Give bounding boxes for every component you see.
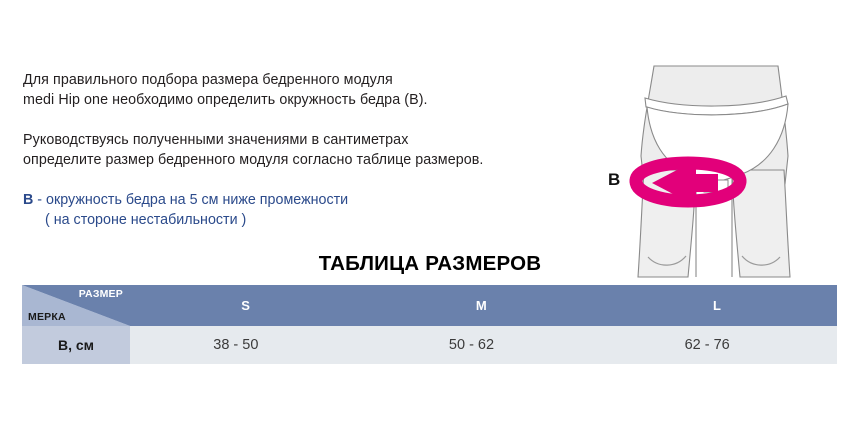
table-corner-cell: РАЗМЕР МЕРКА [22,285,130,326]
column-header-l: L [601,285,837,326]
cell-b-s-value: 38 - 50 [213,337,258,353]
row-header-b: B, см [22,326,130,364]
column-header-m-label: M [476,298,487,313]
intro-paragraph-1: Для правильного подбора размера бедренно… [23,70,583,110]
size-guide-page: Для правильного подбора размера бедренно… [0,0,860,430]
column-header-s-label: S [241,298,250,313]
cell-b-m: 50 - 62 [366,326,602,364]
intro-paragraph-2-line-2: определите размер бедренного модуля согл… [23,150,583,170]
column-header-l-label: L [713,298,721,313]
cell-b-m-value: 50 - 62 [449,337,494,353]
size-table: РАЗМЕР МЕРКА S M L B, см 38 - 50 50 - 62… [22,285,837,364]
cell-b-l-value: 62 - 76 [685,337,730,353]
intro-paragraph-1-line-1: Для правильного подбора размера бедренно… [23,70,583,90]
measurement-note-subtext: ( на стороне нестабильности ) [23,210,583,230]
column-header-s: S [130,285,366,326]
intro-paragraph-2-line-1: Руководствуясь полученными значениями в … [23,130,583,150]
intro-paragraph-2: Руководствуясь полученными значениями в … [23,130,583,170]
intro-paragraph-1-line-2: medi Hip one необходимо определить окруж… [23,90,583,110]
illustration-measure-label: B [608,170,620,190]
hip-thigh-diagram-icon [592,52,840,289]
corner-measure-label: МЕРКА [28,311,66,323]
table-row: B, см 38 - 50 50 - 62 62 - 76 [22,326,837,364]
measurement-note-marker: B [23,192,33,208]
column-header-m: M [366,285,602,326]
cell-b-s: 38 - 50 [130,326,366,364]
measurement-note: B - окружность бедра на 5 см ниже промеж… [23,190,583,230]
hip-measurement-illustration [592,52,840,289]
cell-b-l: 62 - 76 [601,326,837,364]
corner-size-label: РАЗМЕР [79,288,123,300]
table-header-row: РАЗМЕР МЕРКА S M L [22,285,837,326]
intro-text-block: Для правильного подбора размера бедренно… [23,70,583,230]
measurement-note-text: - окружность бедра на 5 см ниже промежно… [33,192,348,208]
